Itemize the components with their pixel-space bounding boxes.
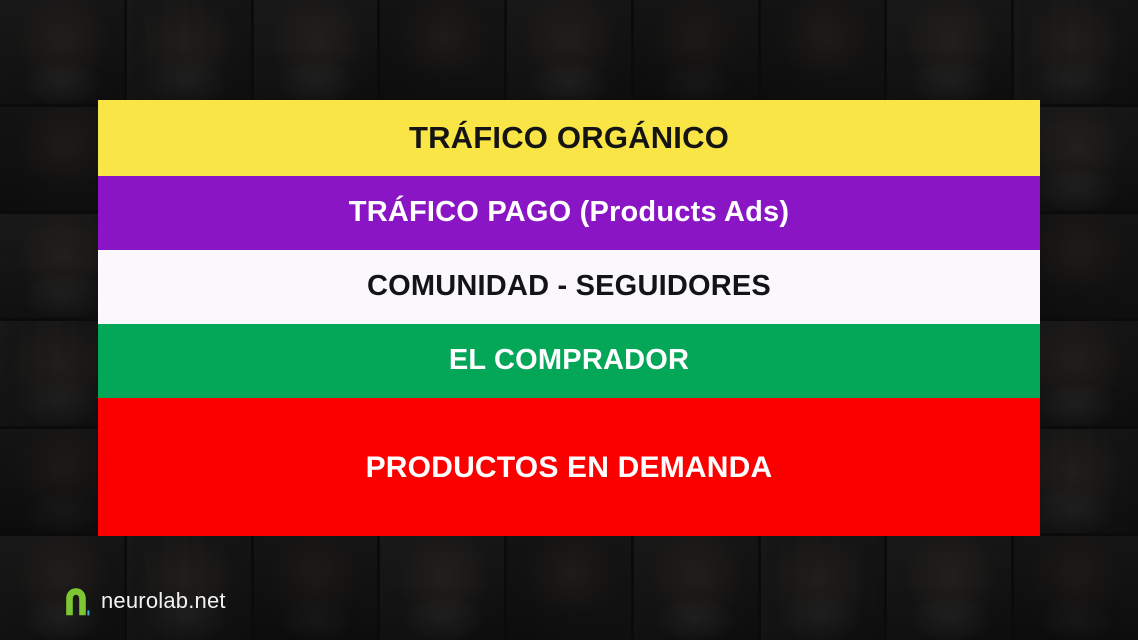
band-trafico-pago: TRÁFICO PAGO (Products Ads) xyxy=(98,176,1040,250)
band-label-el-comprador: EL COMPRADOR xyxy=(449,345,689,377)
band-comunidad-seguidores: COMUNIDAD - SEGUIDORES xyxy=(98,250,1040,324)
neurolab-wordmark: neurolab.net xyxy=(101,590,226,612)
neurolab-arch-icon xyxy=(62,586,90,616)
band-trafico-organico: TRÁFICO ORGÁNICO xyxy=(98,100,1040,176)
band-el-comprador: EL COMPRADOR xyxy=(98,324,1040,398)
slide-canvas: TRÁFICO ORGÁNICO TRÁFICO PAGO (Products … xyxy=(0,0,1138,640)
band-productos-en-demanda: PRODUCTOS EN DEMANDA xyxy=(98,398,1040,536)
band-label-trafico-organico: TRÁFICO ORGÁNICO xyxy=(409,121,729,155)
band-label-productos-en-demanda: PRODUCTOS EN DEMANDA xyxy=(366,451,773,484)
band-label-trafico-pago: TRÁFICO PAGO (Products Ads) xyxy=(349,197,789,229)
band-label-comunidad-seguidores: COMUNIDAD - SEGUIDORES xyxy=(367,271,771,303)
neurolab-logo: neurolab.net xyxy=(62,586,226,616)
funnel-band-stack: TRÁFICO ORGÁNICO TRÁFICO PAGO (Products … xyxy=(98,100,1040,536)
